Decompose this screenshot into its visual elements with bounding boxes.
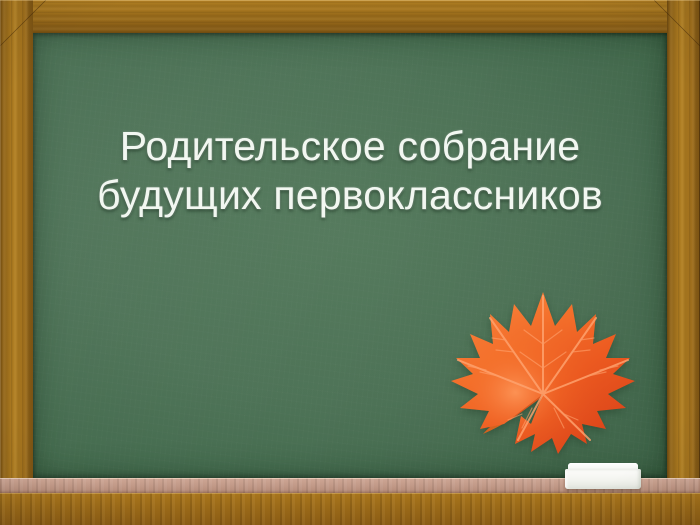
slide-canvas: Родительское собрание будущих первокласс… xyxy=(0,0,700,525)
eraser-front-face xyxy=(565,469,641,489)
chalk-ledge-face xyxy=(0,493,700,525)
frame-rail-top xyxy=(0,0,700,33)
frame-stile-right xyxy=(667,0,700,525)
title-line-2: будущих первоклассников xyxy=(33,175,667,216)
chalk-eraser-icon xyxy=(565,463,641,489)
title-line-1: Родительское собрание xyxy=(33,126,667,167)
slide-title: Родительское собрание будущих первокласс… xyxy=(33,126,667,216)
maple-leaf-icon xyxy=(430,248,656,474)
frame-stile-left xyxy=(0,0,33,525)
